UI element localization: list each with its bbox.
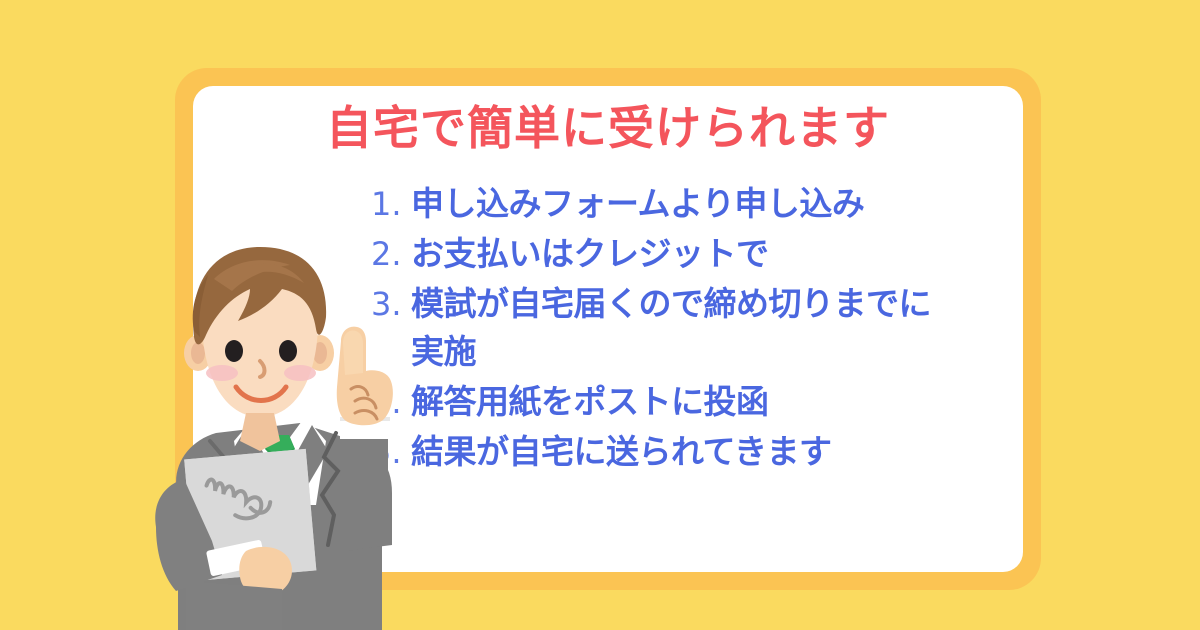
businessman-pointing-up-illustration [150, 245, 410, 630]
poster-canvas: 自宅で簡単に受けられます 1. 申し込みフォームより申し込み 2. お支払いはク… [0, 0, 1200, 630]
